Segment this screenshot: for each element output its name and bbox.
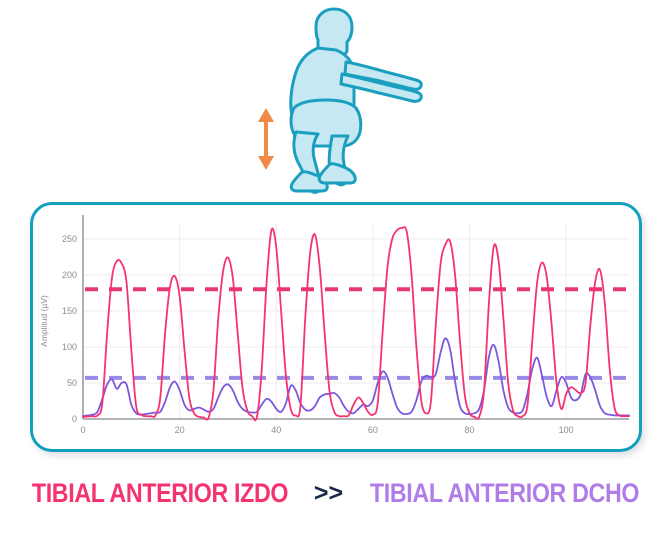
arrow-head-down [258, 156, 274, 170]
squat-exercise-figure [246, 4, 426, 194]
figure-foot-front [319, 164, 355, 183]
emg-chart-card: 050100150200250 020406080100 Amplitud (µ… [30, 202, 642, 452]
x-tick-label: 100 [559, 425, 574, 435]
x-tick-label: 20 [175, 425, 185, 435]
x-tick-label: 0 [80, 425, 85, 435]
y-tick-label: 50 [67, 378, 77, 388]
x-tick-label: 80 [465, 425, 475, 435]
chart-caption: TIBIAL ANTERIOR IZDO>>TIBIAL ANTERIOR DC… [0, 478, 672, 509]
x-tick-label: 60 [368, 425, 378, 435]
x-tick-label: 40 [271, 425, 281, 435]
caption-left-label: TIBIAL ANTERIOR IZDO [32, 478, 288, 509]
y-tick-label: 0 [72, 414, 77, 424]
y-tick-label: 150 [62, 306, 77, 316]
figure-body [291, 9, 422, 192]
emg-chart: 050100150200250 020406080100 Amplitud (µ… [33, 205, 639, 449]
chart-gridlines [83, 223, 629, 419]
caption-separator: >> [309, 479, 348, 508]
illustration-panel [0, 0, 672, 198]
y-tick-label: 250 [62, 234, 77, 244]
series-line [83, 227, 629, 420]
y-axis-title: Amplitud (µV) [39, 295, 49, 347]
arrow-head-up [258, 108, 274, 122]
threshold-lines [85, 289, 629, 378]
series-lines [83, 227, 629, 420]
y-axis-ticks: 050100150200250 [62, 234, 77, 424]
y-tick-label: 200 [62, 270, 77, 280]
caption-right-label: TIBIAL ANTERIOR DCHO [370, 478, 639, 509]
vertical-double-arrow [258, 108, 274, 170]
x-axis-ticks: 020406080100 [80, 425, 573, 435]
y-tick-label: 100 [62, 342, 77, 352]
